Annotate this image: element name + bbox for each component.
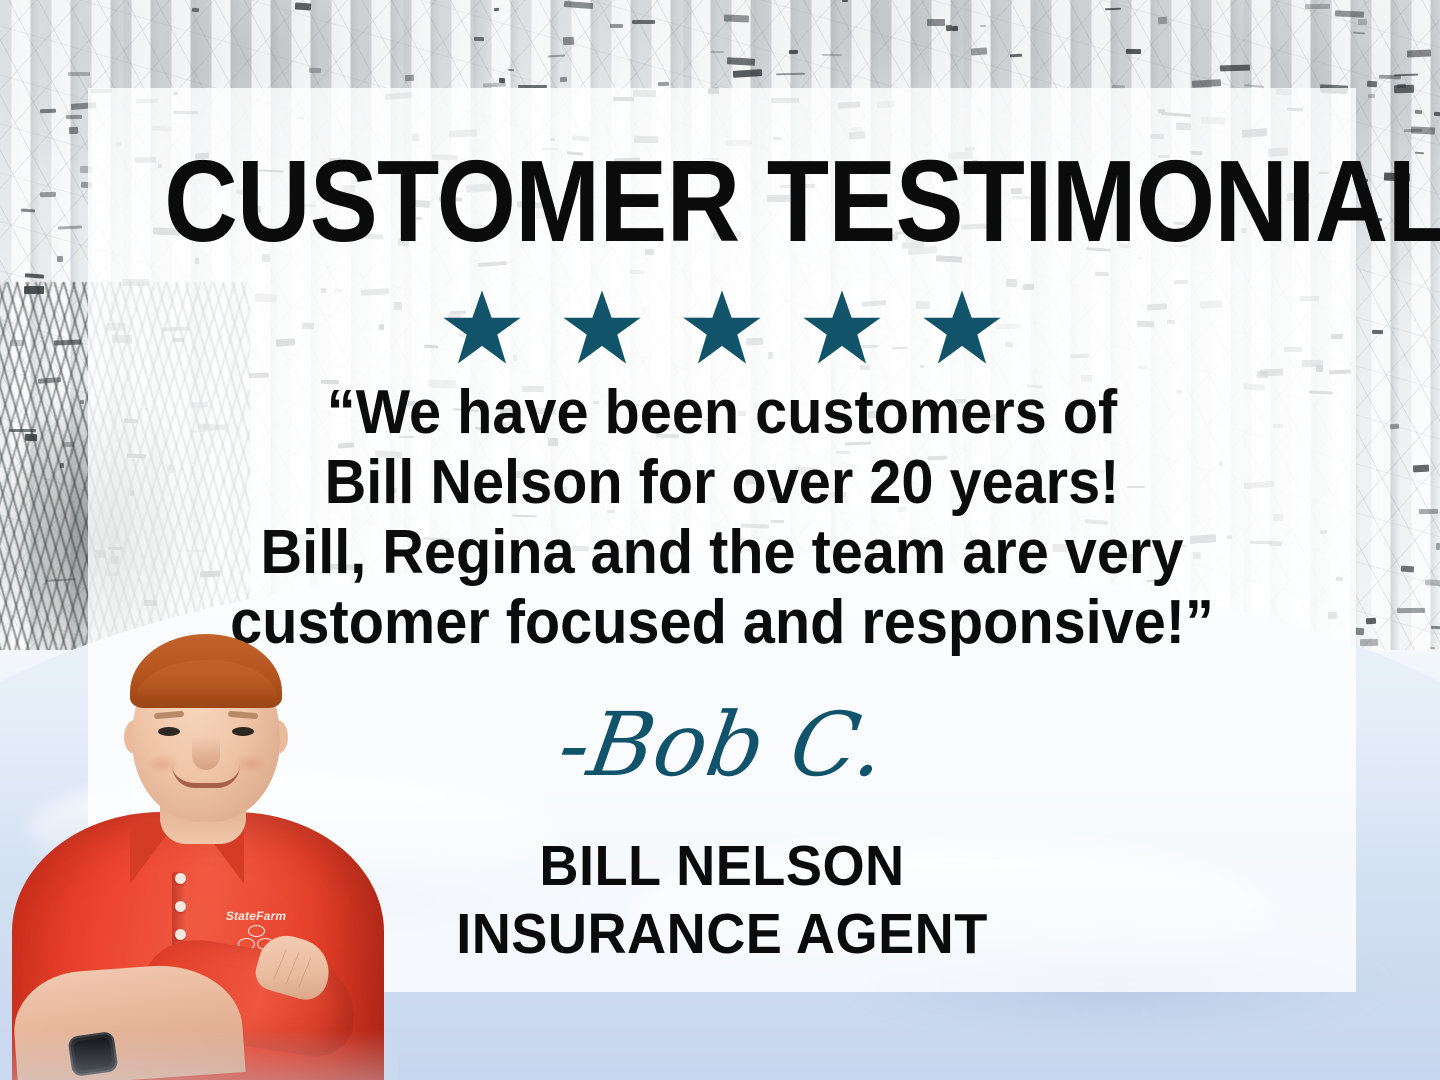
bark-fleck (610, 24, 623, 28)
bark-fleck (548, 54, 565, 58)
bark-fleck (1010, 54, 1022, 58)
bark-fleck (789, 50, 798, 54)
star-rating (88, 288, 1356, 366)
bark-fleck (1411, 127, 1435, 135)
bark-fleck (1372, 329, 1383, 333)
bark-fleck (1334, 10, 1363, 18)
bark-fleck (1431, 626, 1440, 630)
eye-right (232, 727, 254, 736)
bark-fleck (58, 225, 82, 229)
bark-fleck (499, 78, 505, 83)
star-icon (441, 288, 523, 366)
bark-fleck (842, 0, 848, 2)
bark-fleck (1366, 618, 1377, 624)
star-icon (921, 288, 1003, 366)
bark-fleck (21, 208, 35, 212)
bark-fleck (1379, 75, 1401, 80)
bark-fleck (1406, 50, 1431, 58)
bark-fleck (1367, 81, 1377, 88)
bark-fleck (1358, 19, 1367, 25)
bark-fleck (68, 71, 90, 75)
bark-fleck (66, 115, 82, 120)
bark-fleck (1415, 110, 1422, 114)
testimonial-quote: “We have been customers of Bill Nelson f… (190, 378, 1254, 658)
bark-fleck (822, 54, 842, 56)
bark-fleck (980, 25, 986, 27)
bark-fleck (494, 8, 499, 11)
bark-fleck (1353, 32, 1365, 35)
star-icon (681, 288, 763, 366)
logo-oval (248, 925, 265, 937)
bark-fleck (1435, 543, 1440, 550)
bark-fleck (483, 83, 506, 88)
star-icon (801, 288, 883, 366)
bark-fleck (559, 77, 566, 82)
bark-fleck (1220, 64, 1250, 71)
bark-fleck (971, 47, 987, 55)
bark-fleck (632, 20, 655, 24)
bark-fleck (40, 109, 56, 114)
bark-fleck (952, 26, 959, 31)
bark-fleck (1413, 465, 1429, 473)
shirt-button (175, 873, 186, 884)
bark-fleck (1368, 94, 1375, 98)
quote-line: Bill, Regina and the team are very (190, 518, 1254, 588)
bark-fleck (1430, 646, 1435, 649)
bark-fleck (1360, 639, 1378, 646)
bark-fleck (1192, 79, 1221, 88)
bark-fleck (1397, 607, 1425, 612)
eye-left (158, 727, 180, 736)
bark-fleck (1305, 4, 1330, 9)
quote-line: “We have been customers of (190, 378, 1254, 448)
bark-fleck (508, 69, 514, 71)
bark-fleck (1401, 566, 1415, 572)
bark-fleck (1419, 508, 1438, 513)
bark-fleck (733, 69, 762, 78)
bark-fleck (57, 256, 63, 262)
quote-line: Bill Nelson for over 20 years! (190, 448, 1254, 518)
bark-fleck (776, 73, 805, 76)
bark-fleck (192, 8, 199, 12)
bark-fleck (710, 51, 724, 53)
bark-fleck (40, 192, 57, 198)
bark-fleck (405, 75, 414, 81)
bark-fleck (563, 37, 575, 46)
bark-fleck (927, 19, 945, 26)
bark-fleck (1126, 49, 1141, 55)
bark-fleck (1434, 111, 1440, 115)
bark-fleck (309, 68, 321, 73)
photo-blend (0, 1030, 398, 1080)
shirt-button (175, 901, 186, 912)
bark-fleck (294, 2, 310, 10)
bark-fleck (564, 0, 594, 9)
bark-fleck (474, 37, 485, 41)
page-title: CUSTOMER TESTIMONIAL (164, 143, 1280, 259)
shirt-button (175, 929, 186, 940)
bark-fleck (1157, 17, 1167, 24)
state-farm-wordmark: StateFarm (220, 910, 292, 922)
bark-fleck (727, 57, 755, 66)
bark-fleck (1105, 7, 1121, 10)
bark-fleck (658, 82, 670, 87)
quote-line: customer focused and responsive!” (190, 588, 1254, 658)
bark-fleck (1355, 627, 1364, 635)
agent-photo: StateFarm (12, 652, 384, 1080)
bark-fleck (69, 126, 78, 133)
bark-fleck (1390, 424, 1399, 429)
bark-fleck (946, 24, 953, 30)
testimonial-poster: CUSTOMER TESTIMONIAL “We have been custo… (0, 0, 1440, 1080)
bark-fleck (25, 273, 45, 278)
star-icon (561, 288, 643, 366)
bark-fleck (724, 15, 750, 23)
bark-fleck (1424, 579, 1440, 586)
